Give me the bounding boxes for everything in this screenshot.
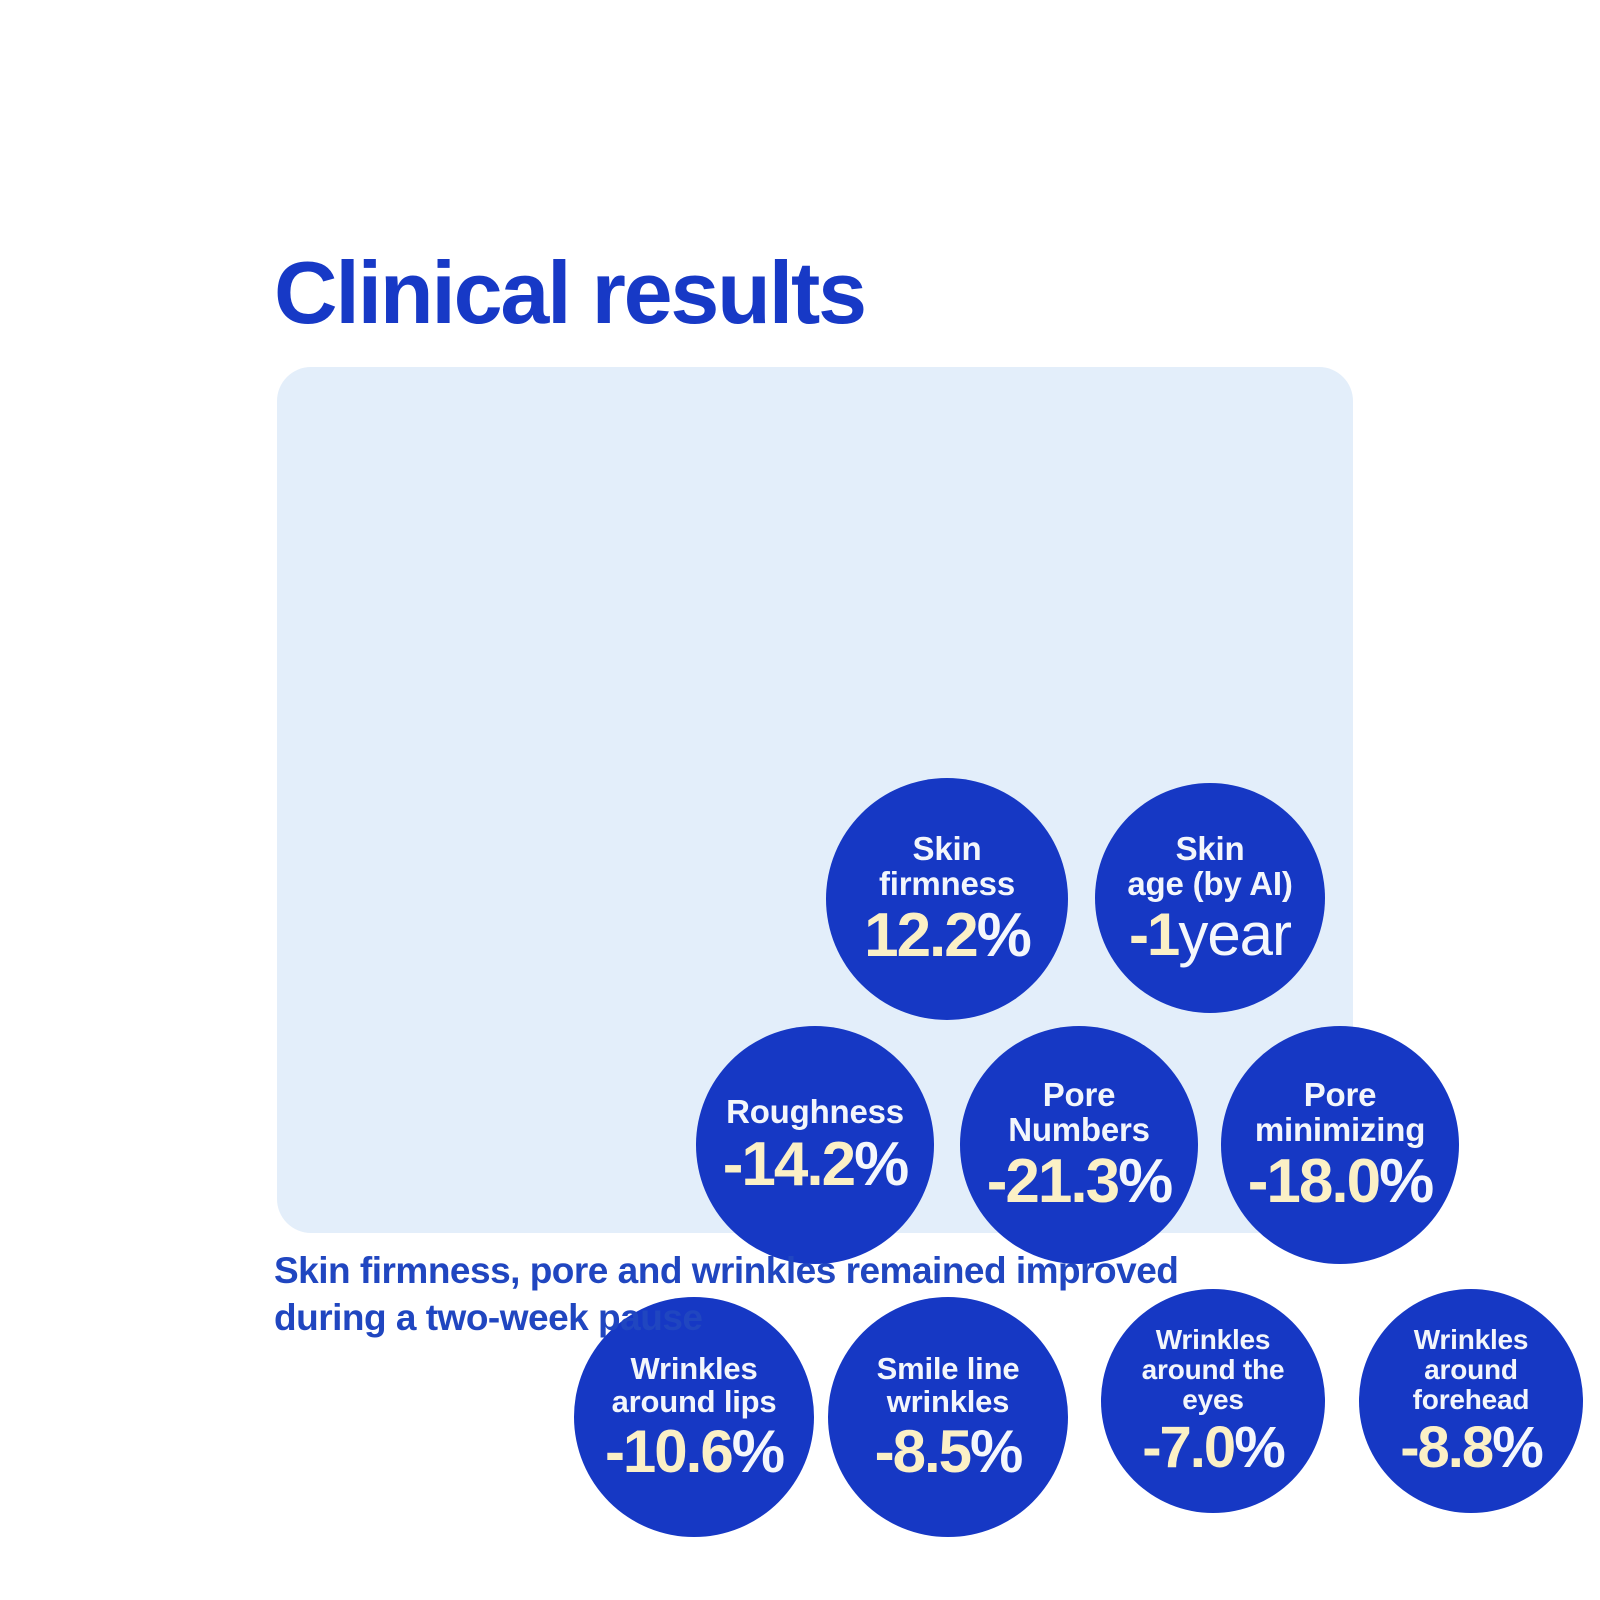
metric-label-line: Skin xyxy=(1079,831,1342,866)
metric-label-pore-minimizing: Pore minimizing xyxy=(1202,1077,1478,1148)
metric-label-line: Pore xyxy=(943,1077,1215,1112)
metric-bubble-skin-firmness: Skin firmness 12.2% xyxy=(826,778,1068,1020)
metric-number: -18.0 xyxy=(1248,1147,1379,1216)
metric-unit: year xyxy=(1178,901,1291,968)
metric-bubble-pore-minimizing: Pore minimizing -18.0% xyxy=(1221,1026,1459,1264)
metric-label-skin-age: Skin age (by AI) xyxy=(1077,831,1344,902)
metric-label-line: age (by AI) xyxy=(1079,866,1342,901)
metric-bubble-wrinkles-around-forehead: Wrinkles around forehead -8.8% xyxy=(1359,1289,1583,1513)
metric-bubble-pore-numbers: Pore Numbers -21.3% xyxy=(960,1026,1198,1264)
metric-label-line: Roughness xyxy=(679,1094,951,1129)
metric-value-smile-line-wrinkles: -8.5% xyxy=(875,1422,1022,1482)
metric-label-pore-numbers: Pore Numbers xyxy=(941,1077,1217,1148)
metric-label-skin-firmness: Skin firmness xyxy=(807,831,1088,902)
metric-unit: % xyxy=(1492,1415,1542,1480)
metric-label-line: Numbers xyxy=(943,1112,1215,1147)
metric-value-skin-age: -1year xyxy=(1129,905,1291,965)
results-caption: Skin firmness, pore and wrinkles remaine… xyxy=(274,1247,1284,1342)
metric-number: -10.6 xyxy=(605,1418,732,1485)
metric-label-wrinkles-around-lips: Wrinkles around lips xyxy=(555,1352,833,1418)
metric-label-line: Smile line xyxy=(811,1352,1085,1385)
metric-unit: % xyxy=(977,901,1030,970)
metric-label-roughness: Roughness xyxy=(677,1094,953,1129)
metric-label-line: eyes xyxy=(1085,1385,1341,1415)
metric-label-line: firmness xyxy=(809,866,1086,901)
metric-number: -8.5 xyxy=(875,1418,970,1485)
metric-number: -14.2 xyxy=(723,1130,854,1199)
metric-value-wrinkles-around-eyes: -7.0% xyxy=(1142,1419,1284,1477)
metric-value-skin-firmness: 12.2% xyxy=(864,905,1030,967)
page-title: Clinical results xyxy=(274,249,865,337)
metric-unit: % xyxy=(1118,1147,1171,1216)
metric-number: -1 xyxy=(1129,901,1178,968)
metric-unit: % xyxy=(1234,1415,1284,1480)
metric-label-line: around lips xyxy=(557,1385,831,1418)
metric-unit: % xyxy=(732,1418,783,1485)
metric-number: 12.2 xyxy=(864,901,977,970)
metric-label-line: Skin xyxy=(809,831,1086,866)
metric-value-pore-minimizing: -18.0% xyxy=(1248,1151,1432,1213)
results-panel: Skin firmness 12.2% Skin age (by AI) -1y… xyxy=(277,367,1353,1233)
metric-label-line: minimizing xyxy=(1204,1112,1476,1147)
metric-value-wrinkles-around-forehead: -8.8% xyxy=(1400,1419,1542,1477)
metric-label-wrinkles-around-forehead: Wrinkles around forehead xyxy=(1341,1325,1600,1415)
metric-label-line: forehead xyxy=(1343,1385,1599,1415)
metric-label-line: wrinkles xyxy=(811,1385,1085,1418)
metric-unit: % xyxy=(1379,1147,1432,1216)
metric-number: -7.0 xyxy=(1142,1415,1234,1480)
metric-label-line: Wrinkles xyxy=(557,1352,831,1385)
metric-unit: % xyxy=(970,1418,1021,1485)
metric-bubble-skin-age: Skin age (by AI) -1year xyxy=(1095,783,1325,1013)
metric-unit: % xyxy=(854,1130,907,1199)
metric-label-line: Pore xyxy=(1204,1077,1476,1112)
metric-value-roughness: -14.2% xyxy=(723,1134,907,1196)
metric-value-wrinkles-around-lips: -10.6% xyxy=(605,1422,783,1482)
metric-value-pore-numbers: -21.3% xyxy=(987,1151,1171,1213)
metric-number: -21.3 xyxy=(987,1147,1118,1216)
metric-label-line: around the xyxy=(1085,1355,1341,1385)
metric-label-smile-line-wrinkles: Smile line wrinkles xyxy=(809,1352,1087,1418)
infographic-canvas: Clinical results Skin firmness 12.2% Ski… xyxy=(0,0,1600,1600)
metric-number: -8.8 xyxy=(1400,1415,1492,1480)
metric-label-line: around xyxy=(1343,1355,1599,1385)
metric-bubble-roughness: Roughness -14.2% xyxy=(696,1026,934,1264)
metric-label-line: Wrinkles xyxy=(1343,1325,1599,1355)
